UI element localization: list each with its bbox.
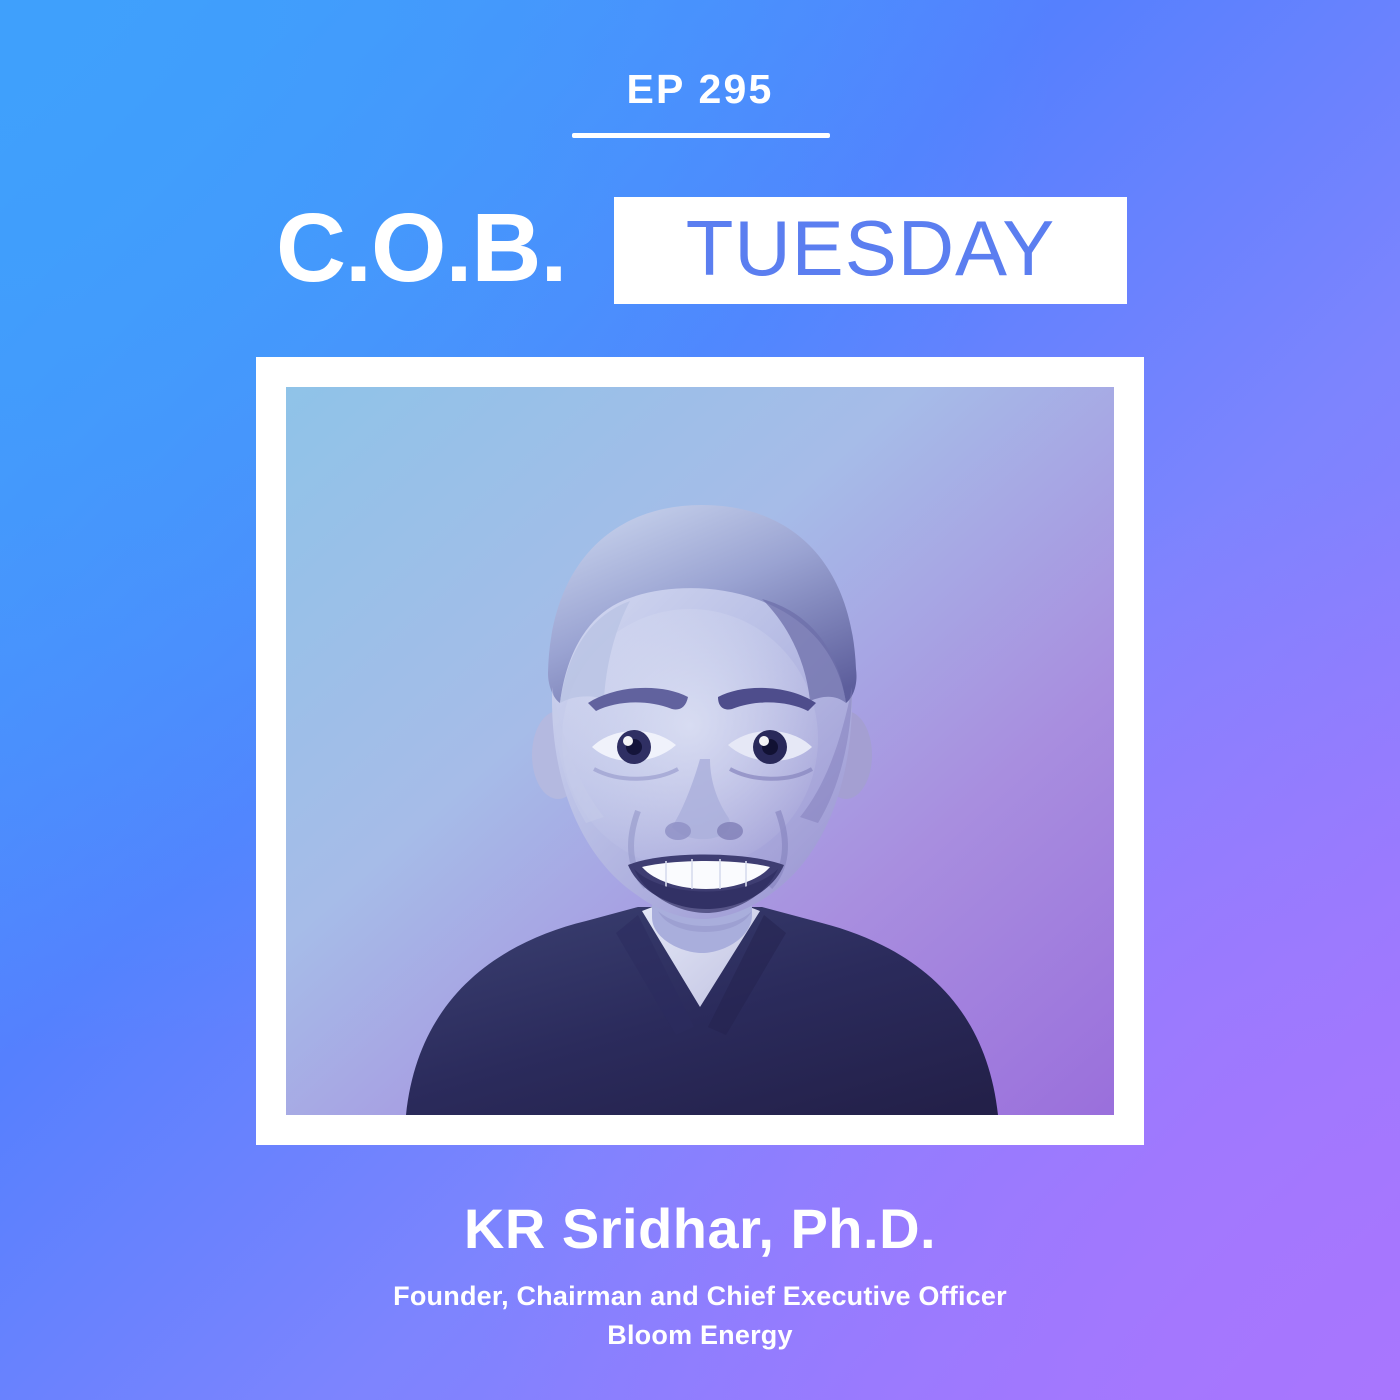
portrait-illustration [286,387,1114,1115]
show-logo-lockup: C.O.B. TUESDAY [0,188,1400,313]
guest-name: KR Sridhar, Ph.D. [0,1196,1400,1261]
podcast-cover-art: EP 295 C.O.B. TUESDAY [0,0,1400,1400]
divider-rule [572,133,830,138]
guest-role: Founder, Chairman and Chief Executive Of… [0,1281,1400,1312]
episode-number: EP 295 [0,66,1400,113]
guest-organization: Bloom Energy [0,1320,1400,1351]
logo-secondary-box: TUESDAY [614,197,1127,304]
logo-primary-text: C.O.B. [276,194,566,302]
guest-portrait [286,387,1114,1115]
portrait-frame [256,357,1144,1145]
logo-secondary-text: TUESDAY [614,197,1127,304]
